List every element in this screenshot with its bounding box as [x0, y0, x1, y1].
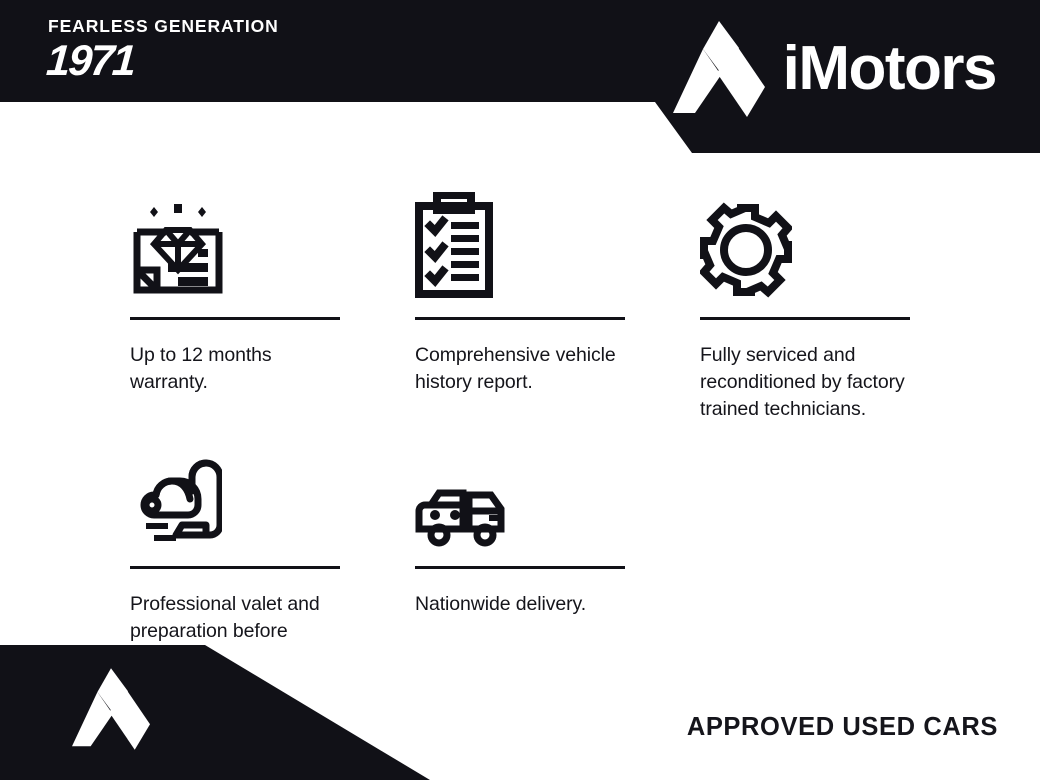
feature-icon-wrap	[415, 447, 625, 547]
car-transporter-truck-icon	[415, 481, 505, 547]
feature-label: Up to 12 months warranty.	[130, 342, 340, 396]
warranty-certificate-icon	[130, 192, 226, 298]
imotors-wordmark: iMotors	[783, 38, 996, 100]
feature-delivery: Nationwide delivery.	[415, 447, 625, 672]
feature-empty-slot	[700, 447, 910, 672]
feature-divider	[415, 317, 625, 320]
imotors-chevron-mark-icon	[673, 21, 765, 117]
page-header: FEARLESS GENERATION 1971 iMotors	[0, 0, 1040, 153]
feature-divider	[700, 317, 910, 320]
feature-label: Nationwide delivery.	[415, 591, 625, 618]
feature-label: Comprehensive vehicle history report.	[415, 342, 625, 396]
feature-divider	[130, 317, 340, 320]
feature-row-1: Up to 12 months warranty.	[130, 186, 920, 423]
feature-serviced: Fully serviced and reconditioned by fact…	[700, 186, 910, 423]
footer-tagline: APPROVED USED CARS	[687, 713, 998, 742]
footer-imotors-chevron-mark-icon	[72, 665, 150, 753]
fearless-generation-badge: FEARLESS GENERATION 1971	[48, 18, 378, 83]
feature-history-report: Comprehensive vehicle history report.	[415, 186, 625, 423]
promo-page: FEARLESS GENERATION 1971 iMotors	[0, 0, 1040, 780]
header-tagline: FEARLESS GENERATION	[48, 18, 378, 36]
clipboard-checklist-icon	[415, 192, 493, 298]
feature-divider	[130, 566, 340, 569]
feature-valet: Professional valet and preparation befor…	[130, 447, 340, 672]
feature-icon-wrap	[700, 186, 910, 298]
feature-divider	[415, 566, 625, 569]
feature-icon-wrap	[415, 186, 625, 298]
imotors-logo[interactable]: iMotors	[673, 21, 996, 117]
feature-row-2: Professional valet and preparation befor…	[130, 447, 920, 672]
feature-grid: Up to 12 months warranty.	[130, 186, 920, 671]
feature-icon-wrap	[130, 186, 340, 298]
gear-icon	[700, 202, 792, 298]
header-year: 1971	[45, 40, 378, 83]
feature-label: Fully serviced and reconditioned by fact…	[700, 342, 910, 423]
feature-warranty: Up to 12 months warranty.	[130, 186, 340, 423]
vacuum-cleaner-icon	[130, 455, 222, 547]
feature-icon-wrap	[130, 447, 340, 547]
